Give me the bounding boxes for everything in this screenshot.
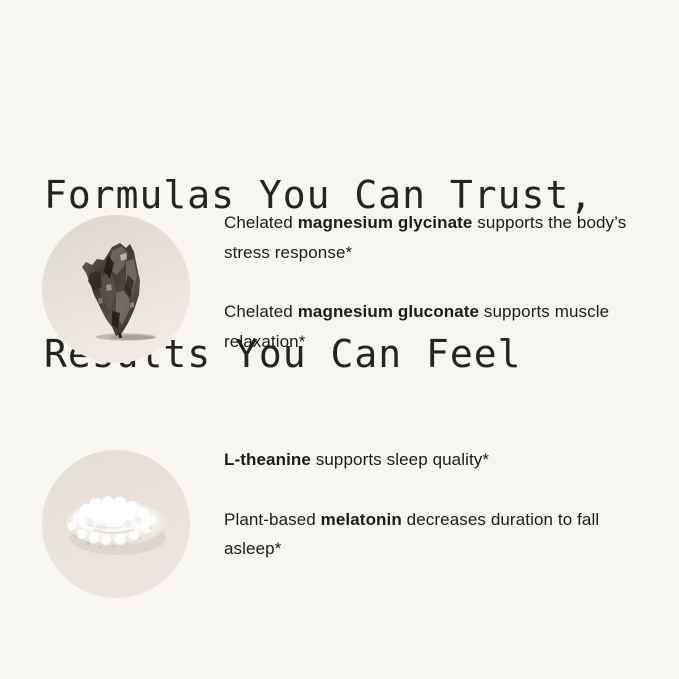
claim-magnesium-glycinate: Chelated magnesium glycinate supports th… bbox=[224, 208, 644, 267]
claim-melatonin: Plant-based melatonin decreases duration… bbox=[224, 505, 644, 564]
claim-emphasis: L-theanine bbox=[224, 450, 311, 469]
claim-prefix: Plant-based bbox=[224, 510, 321, 529]
marketing-panel: Formulas You Can Trust, Results You Can … bbox=[0, 0, 679, 679]
white-powder-photo bbox=[42, 450, 190, 598]
claim-emphasis: magnesium gluconate bbox=[298, 302, 479, 321]
magnesium-claims: Chelated magnesium glycinate supports th… bbox=[224, 208, 644, 356]
claim-emphasis: magnesium glycinate bbox=[298, 213, 473, 232]
claim-prefix: Chelated bbox=[224, 213, 298, 232]
claim-prefix: Chelated bbox=[224, 302, 298, 321]
claim-suffix: supports sleep quality* bbox=[311, 450, 489, 469]
magnesium-mineral-photo bbox=[42, 215, 190, 363]
claim-l-theanine: L-theanine supports sleep quality* bbox=[224, 445, 644, 475]
sleep-claims: L-theanine supports sleep quality* Plant… bbox=[224, 445, 644, 564]
claim-emphasis: melatonin bbox=[321, 510, 402, 529]
claim-magnesium-gluconate: Chelated magnesium gluconate supports mu… bbox=[224, 297, 644, 356]
